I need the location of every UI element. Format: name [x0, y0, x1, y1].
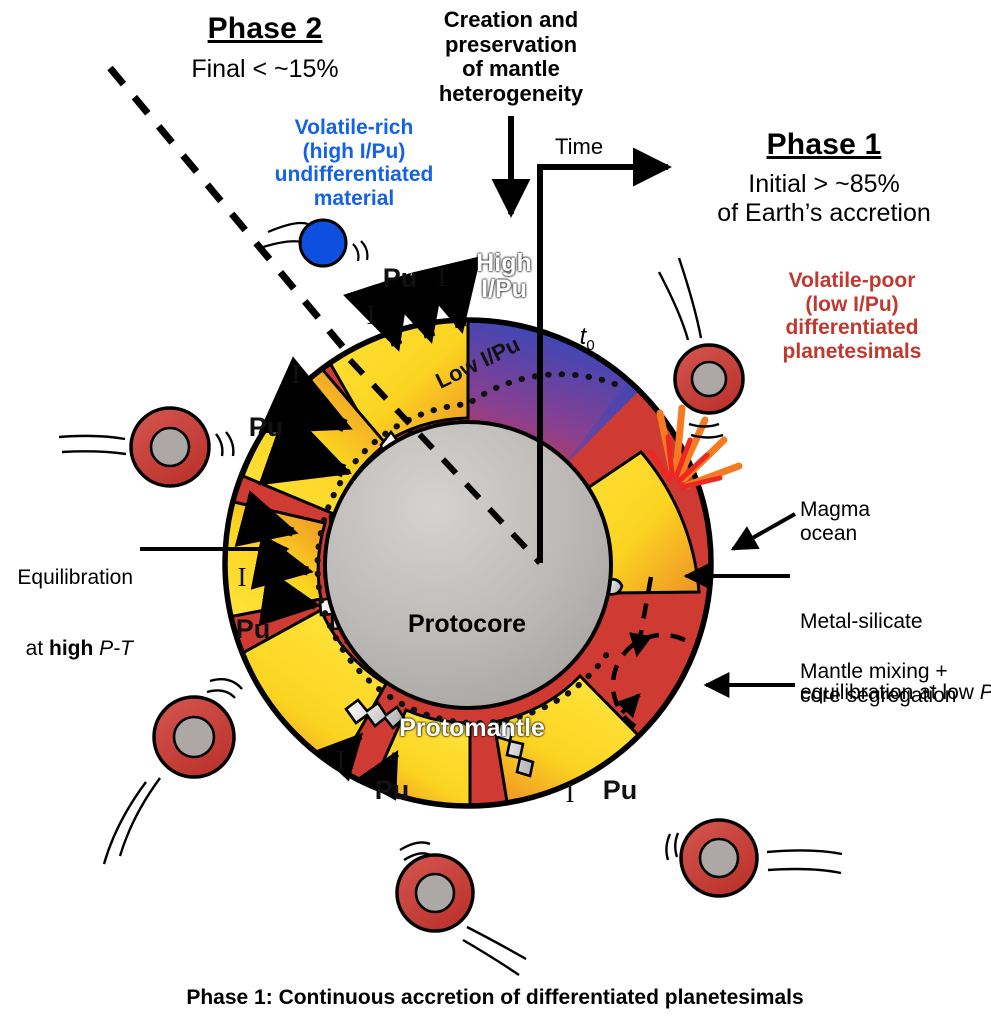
equilibration-high-line1: Equilibration — [17, 566, 133, 590]
time-axis-label: Time — [555, 135, 603, 160]
phase-boundary-dashed-outer — [110, 68, 352, 358]
phase1-subtitle-line1: Initial > ~85% — [748, 170, 900, 198]
magma-ocean-annotation: Magma ocean — [800, 498, 870, 545]
label-pu-upper-left: Pu — [249, 412, 284, 442]
volatile-rich-note: Volatile-rich (high I/Pu) undifferentiat… — [275, 116, 434, 210]
phase1-subtitle-line2: of Earth’s accretion — [717, 199, 931, 227]
phase2-subtitle: Final < ~15% — [191, 55, 338, 83]
label-i-bottom-right: I — [566, 778, 575, 808]
metal-silicate-annotation: Metal-silicate equilibration at low P-T — [800, 563, 991, 751]
label-pu-bottom-right: Pu — [603, 775, 638, 805]
protocore — [325, 422, 611, 708]
label-pu-bottom-left: Pu — [375, 775, 410, 805]
planetesimal-right-upper — [659, 258, 743, 438]
t0-label: t0 — [553, 297, 595, 381]
t0-subscript: 0 — [586, 337, 594, 354]
label-i-mid-left: I — [238, 562, 247, 592]
phase2-title: Phase 2 — [208, 12, 323, 46]
label-i-top-left: I — [367, 300, 376, 330]
figure-canvas: Phase 2 Final < ~15% Phase 1 Initial > ~… — [0, 0, 991, 1024]
label-pu-mid-left: Pu — [236, 614, 271, 644]
equilibration-high-line2: at high P-T — [17, 637, 133, 661]
mantle-mixing-annotation: Mantle mixing + core segregation — [800, 660, 956, 707]
heterogeneity-note: Creation and preservation of mantle hete… — [439, 8, 583, 107]
volatile-poor-note: Volatile-poor (low I/Pu) differentiated … — [783, 269, 922, 363]
label-i-bottom-left: I — [337, 745, 346, 775]
label-i-top-right: I — [438, 262, 447, 292]
planetesimal-undifferentiated — [260, 220, 367, 266]
leader-magma-ocean — [733, 514, 795, 549]
label-pu-top: Pu — [383, 263, 418, 293]
protomantle-label: Protomantle — [399, 714, 545, 742]
figure-caption: Phase 1: Continuous accretion of differe… — [186, 986, 803, 1010]
planetesimal-bottom-right — [666, 820, 842, 896]
protocore-label: Protocore — [408, 610, 526, 638]
metal-silicate-line1: Metal-silicate — [800, 610, 991, 634]
planetesimal-bottom-center — [397, 842, 526, 975]
phase1-title: Phase 1 — [767, 128, 882, 162]
high-ipu-label: High I/Pu — [476, 250, 532, 303]
label-i-upper-left: I — [292, 359, 301, 389]
planetesimal-left-mid — [59, 408, 233, 486]
equilibration-high-annotation: Equilibration at high P-T — [17, 519, 133, 707]
